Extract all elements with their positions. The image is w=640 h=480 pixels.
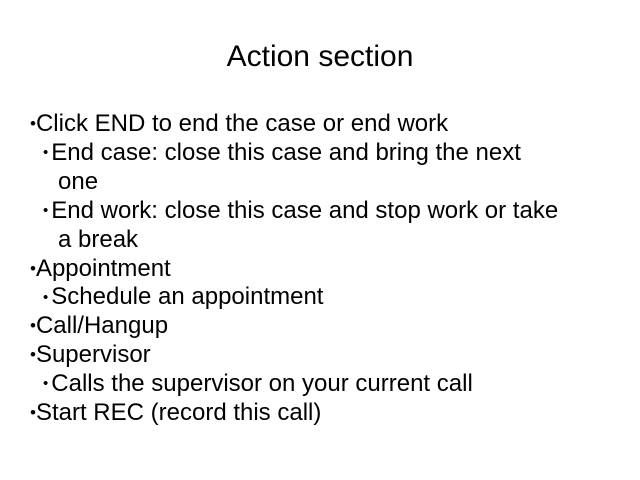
slide-title: Action section: [0, 40, 640, 74]
bullet-item-level-1: •Call/Hangup: [30, 312, 620, 341]
bullet-text: Calls the supervisor on your current cal…: [51, 370, 473, 397]
bullet-item-level-2: •Schedule an appointment: [30, 283, 620, 312]
bullet-text: a break: [58, 226, 138, 253]
bullet-text: Start REC (record this call): [36, 399, 321, 426]
bullet-item-level-1: •Start REC (record this call): [30, 399, 620, 428]
bullet-text: End case: close this case and bring the …: [51, 139, 521, 166]
slide-body-content: •Click END to end the case or end work•E…: [30, 110, 620, 428]
bullet-item-level-1: •Appointment: [30, 255, 620, 284]
bullet-continuation-line: a break: [30, 226, 620, 255]
bullet-text: Schedule an appointment: [51, 283, 323, 310]
bullet-text: Click END to end the case or end work: [36, 110, 448, 137]
bullet-text: one: [58, 168, 98, 195]
bullet-text: Appointment: [36, 255, 171, 282]
bullet-text: Call/Hangup: [36, 312, 168, 339]
bullet-item-level-2: •End work: close this case and stop work…: [30, 197, 620, 226]
bullet-item-level-1: •Supervisor: [30, 341, 620, 370]
bullet-text: Supervisor: [36, 341, 151, 368]
bullet-text: End work: close this case and stop work …: [51, 197, 558, 224]
bullet-item-level-2: •End case: close this case and bring the…: [30, 139, 620, 168]
bullet-continuation-line: one: [30, 168, 620, 197]
bullet-item-level-2: •Calls the supervisor on your current ca…: [30, 370, 620, 399]
bullet-item-level-1: •Click END to end the case or end work: [30, 110, 620, 139]
slide: Action section •Click END to end the cas…: [0, 0, 640, 480]
